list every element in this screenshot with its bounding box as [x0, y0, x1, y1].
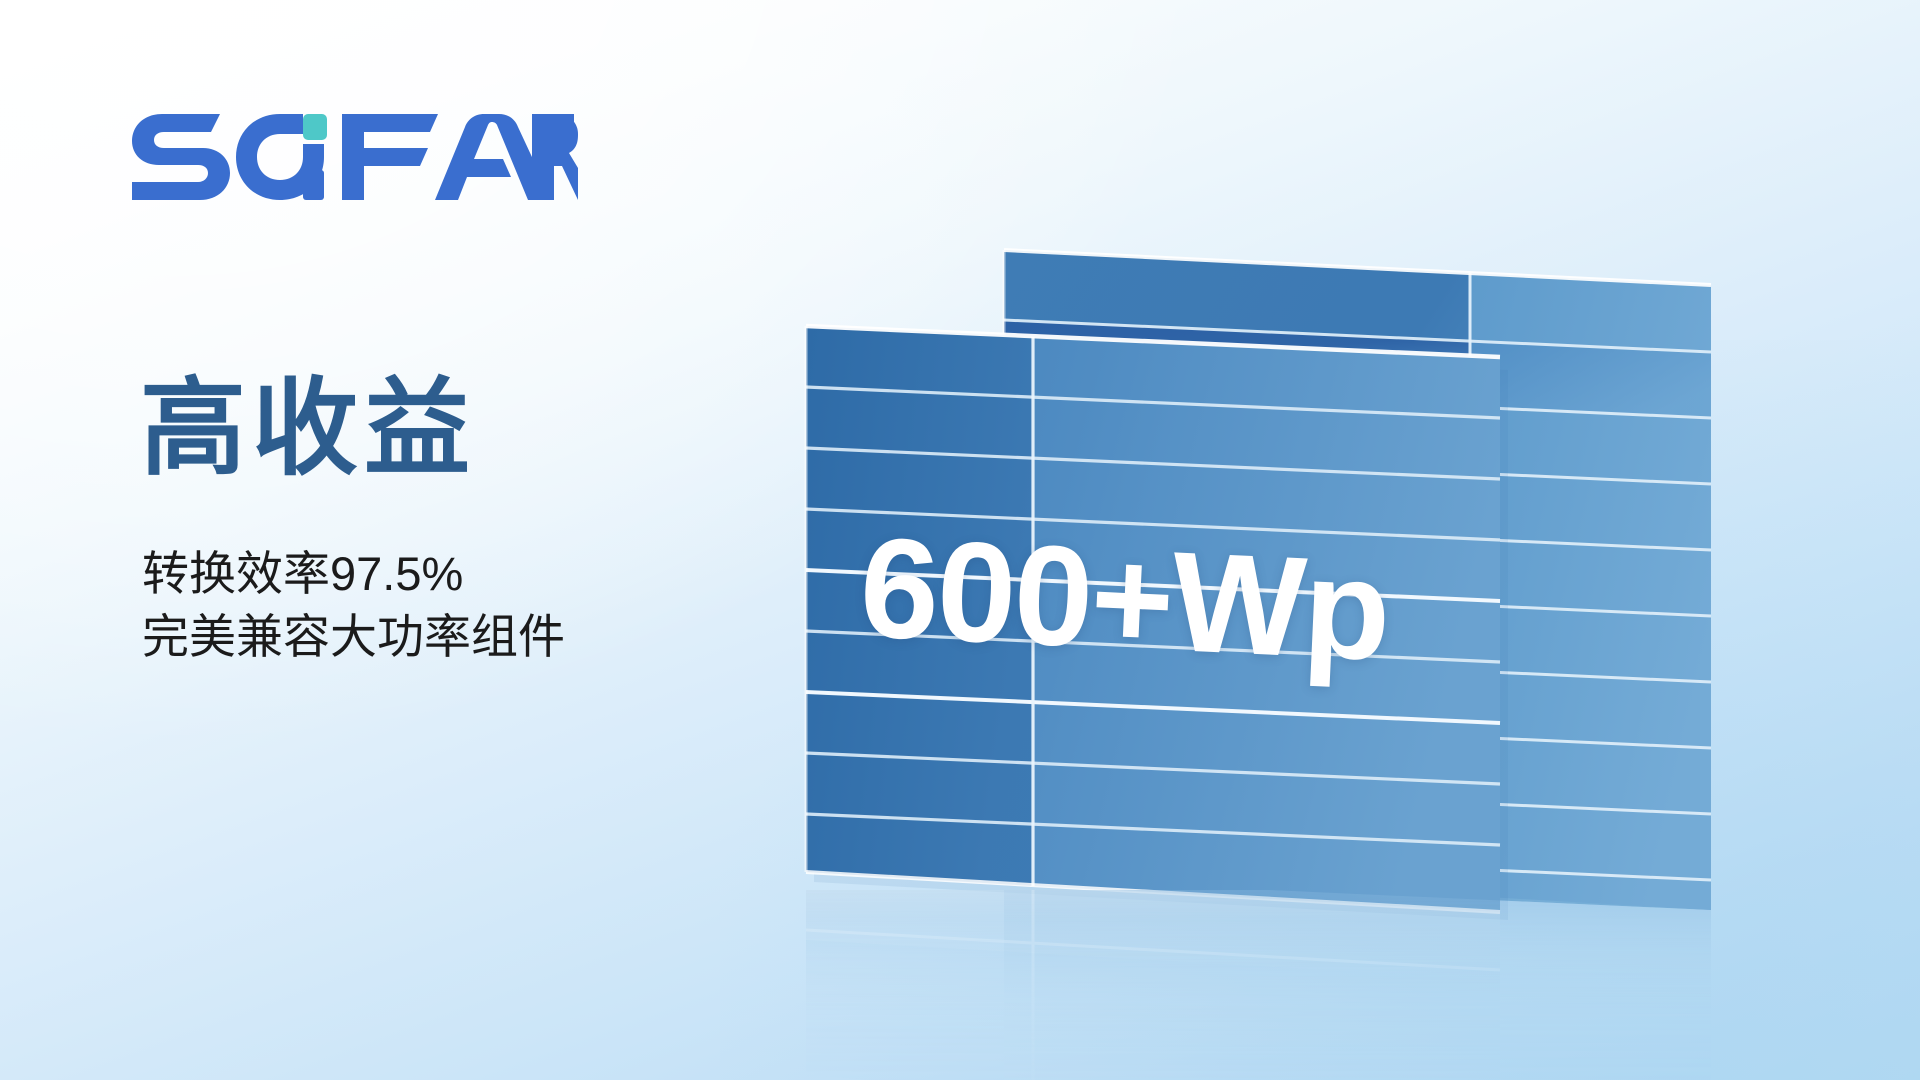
logo-accent-square-icon — [303, 114, 327, 140]
sofar-wordmark-icon — [128, 108, 578, 200]
panel-reflection — [806, 872, 1711, 1080]
subtitle-line-2: 完美兼容大功率组件 — [142, 606, 565, 669]
sofar-logo[interactable] — [128, 108, 578, 200]
panel-power-label: 600+Wp — [857, 506, 1393, 694]
subtitle-line-1: 转换效率97.5% — [142, 543, 565, 606]
page-title: 高收益 — [140, 372, 476, 486]
logo-letter-r — [532, 114, 578, 200]
poster-canvas: 高收益 转换效率97.5% 完美兼容大功率组件 — [0, 0, 1920, 1080]
subtitle-block: 转换效率97.5% 完美兼容大功率组件 — [142, 543, 565, 668]
